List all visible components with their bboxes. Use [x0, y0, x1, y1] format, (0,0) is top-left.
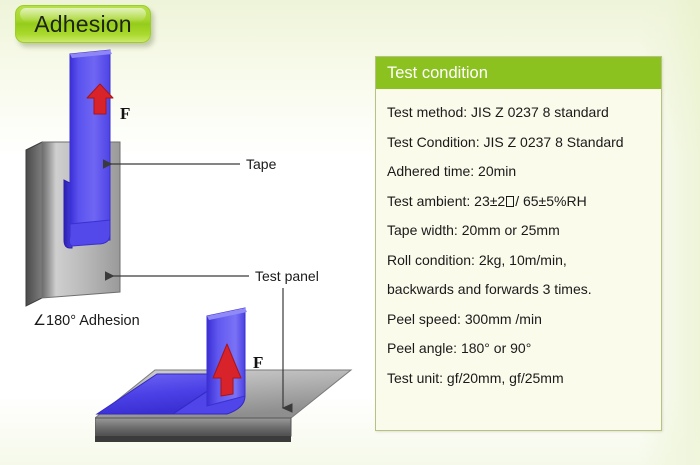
- label-tape: Tape: [246, 156, 276, 172]
- test-condition-header: Test condition: [376, 57, 661, 89]
- condition-line-test-unit: Test unit: gf/20mm, gf/25mm: [387, 364, 661, 394]
- caption-180-degree-adhesion: ∠180° Adhesion: [33, 313, 140, 329]
- label-test-panel: Test panel: [255, 268, 319, 284]
- test-condition-panel: Test condition Test method: JIS Z 0237 8…: [375, 56, 662, 431]
- condition-line-test-condition: Test Condition: JIS Z 0237 8 Standard: [387, 128, 661, 158]
- test-condition-header-label: Test condition: [387, 64, 488, 83]
- force-label-top: F: [120, 104, 130, 124]
- page-background: Adhesion: [0, 0, 700, 465]
- condition-line-adhered-time: Adhered time: 20min: [387, 157, 661, 187]
- test-ambient-prefix: Test ambient: 23±2: [387, 193, 505, 209]
- adhesion-tab[interactable]: Adhesion: [15, 5, 151, 43]
- force-label-bottom: F: [253, 353, 263, 373]
- condition-line-test-method: Test method: JIS Z 0237 8 standard: [387, 98, 661, 128]
- condition-line-peel-speed: Peel speed: 300mm /min: [387, 305, 661, 335]
- condition-line-peel-angle: Peel angle: 180° or 90°: [387, 334, 661, 364]
- condition-line-test-ambient: Test ambient: 23±2/ 65±5%RH: [387, 187, 661, 217]
- adhesion-tab-label: Adhesion: [34, 11, 132, 38]
- condition-line-roll-condition: Roll condition: 2kg, 10m/min,: [387, 246, 661, 276]
- test-ambient-suffix: / 65±5%RH: [515, 193, 587, 209]
- condition-line-roll-condition-cont: backwards and forwards 3 times.: [387, 275, 661, 305]
- missing-glyph-box: [506, 196, 514, 207]
- condition-line-tape-width: Tape width: 20mm or 25mm: [387, 216, 661, 246]
- test-condition-body: Test method: JIS Z 0237 8 standard Test …: [376, 89, 661, 393]
